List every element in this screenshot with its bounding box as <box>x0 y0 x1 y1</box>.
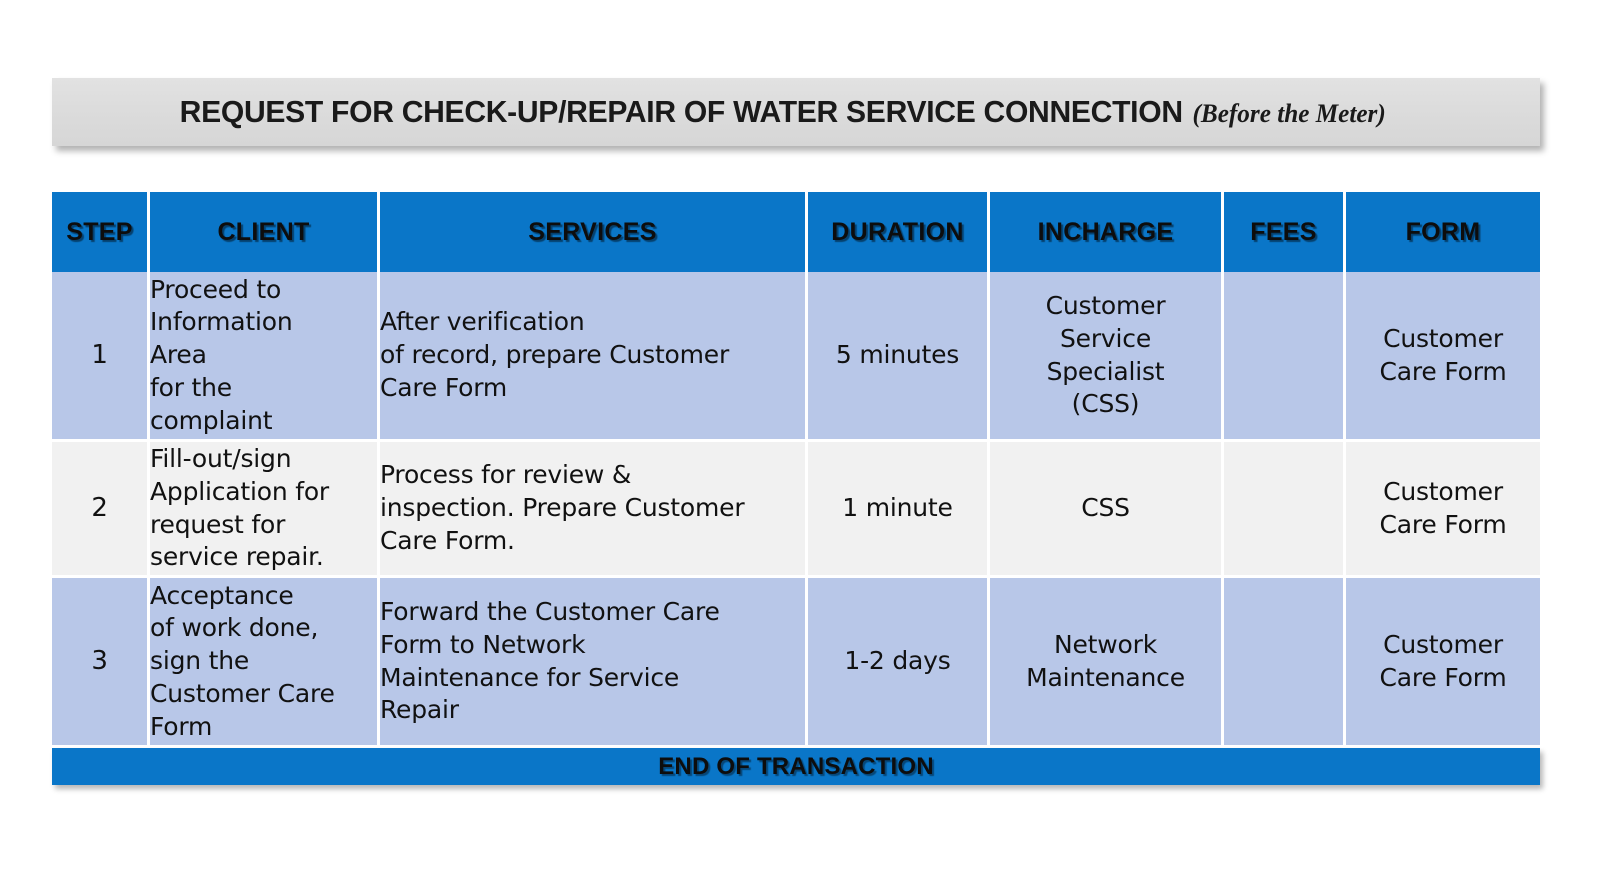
cell-services: Process for review & inspection. Prepare… <box>380 442 808 578</box>
column-header-step: STEP <box>52 192 150 272</box>
column-header-form: FORM <box>1346 192 1540 272</box>
cell-incharge: CSS <box>990 442 1224 578</box>
cell-incharge: Network Maintenance <box>990 578 1224 748</box>
end-of-transaction-label: END OF TRANSACTION <box>52 748 1540 785</box>
cell-duration: 5 minutes <box>808 272 990 442</box>
cell-client: Proceed to Information Area for the comp… <box>150 272 380 442</box>
page-title: REQUEST FOR CHECK-UP/REPAIR OF WATER SER… <box>180 94 1386 130</box>
cell-services: After verification of record, prepare Cu… <box>380 272 808 442</box>
cell-duration: 1 minute <box>808 442 990 578</box>
page-title-main: REQUEST FOR CHECK-UP/REPAIR OF WATER SER… <box>180 94 1183 130</box>
table-header-row: STEP CLIENT SERVICES DURATION INCHARGE F… <box>52 192 1540 272</box>
cell-form: Customer Care Form <box>1346 442 1540 578</box>
cell-form: Customer Care Form <box>1346 272 1540 442</box>
cell-incharge: Customer Service Specialist (CSS) <box>990 272 1224 442</box>
cell-step: 2 <box>52 442 150 578</box>
cell-client: Acceptance of work done, sign the Custom… <box>150 578 380 748</box>
column-header-incharge: INCHARGE <box>990 192 1224 272</box>
cell-step: 3 <box>52 578 150 748</box>
cell-fees <box>1224 442 1346 578</box>
process-flow-table: STEP CLIENT SERVICES DURATION INCHARGE F… <box>52 192 1540 785</box>
cell-step: 1 <box>52 272 150 442</box>
column-header-fees: FEES <box>1224 192 1346 272</box>
cell-duration: 1-2 days <box>808 578 990 748</box>
page-title-subtitle: (Before the Meter) <box>1193 99 1386 129</box>
column-header-client: CLIENT <box>150 192 380 272</box>
end-of-transaction-row: END OF TRANSACTION <box>52 748 1540 785</box>
cell-services: Forward the Customer Care Form to Networ… <box>380 578 808 748</box>
column-header-duration: DURATION <box>808 192 990 272</box>
cell-client: Fill-out/sign Application for request fo… <box>150 442 380 578</box>
page-title-banner: REQUEST FOR CHECK-UP/REPAIR OF WATER SER… <box>52 78 1540 146</box>
cell-fees <box>1224 272 1346 442</box>
table-body: 1 Proceed to Information Area for the co… <box>52 272 1540 785</box>
table-header: STEP CLIENT SERVICES DURATION INCHARGE F… <box>52 192 1540 272</box>
table-row: 3 Acceptance of work done, sign the Cust… <box>52 578 1540 748</box>
cell-form: Customer Care Form <box>1346 578 1540 748</box>
table-row: 2 Fill-out/sign Application for request … <box>52 442 1540 578</box>
table-row: 1 Proceed to Information Area for the co… <box>52 272 1540 442</box>
cell-fees <box>1224 578 1346 748</box>
column-header-services: SERVICES <box>380 192 808 272</box>
